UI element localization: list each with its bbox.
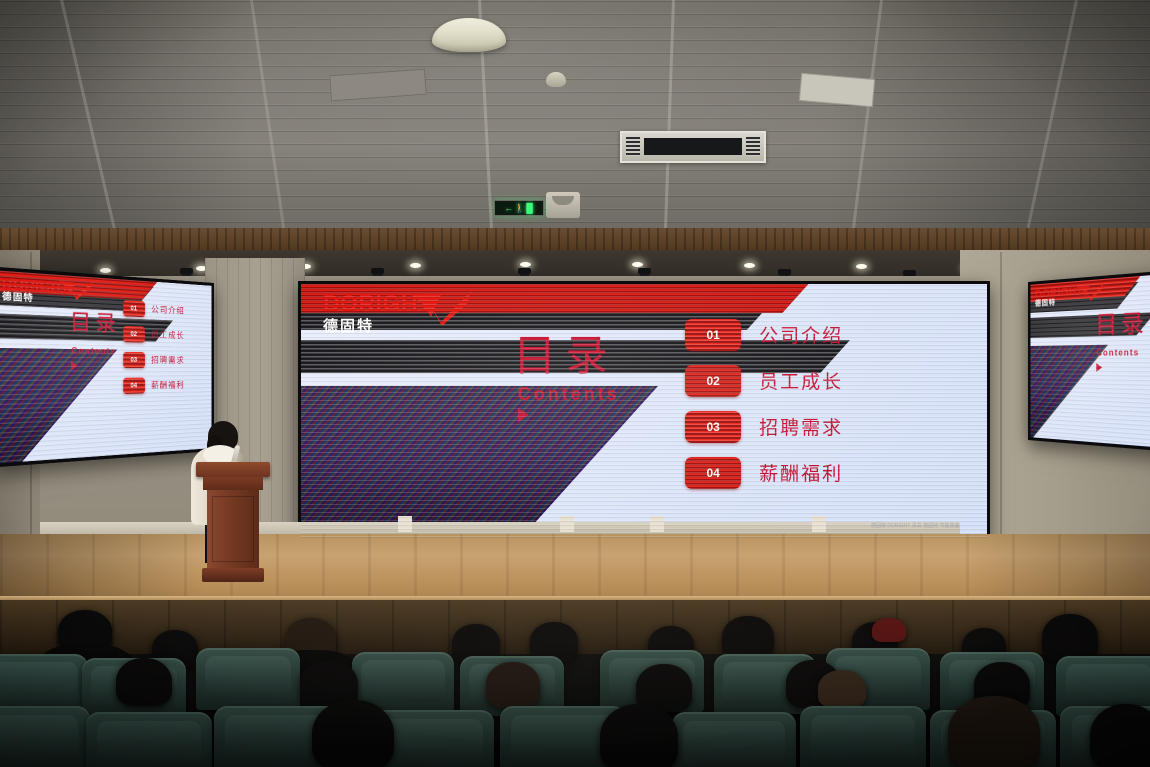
slide-content-right: DORIGHT 德固特 目录 Contents	[1031, 272, 1150, 450]
slide-heading-cn: 目录	[70, 310, 120, 334]
audience-head	[872, 618, 906, 642]
downlight	[744, 263, 755, 268]
agenda-number-badge: 01	[123, 300, 145, 317]
brand-check-icon	[407, 290, 473, 326]
audience-head	[116, 658, 172, 706]
audience-head	[948, 696, 1040, 767]
slide-heading-en: Contents	[518, 384, 620, 405]
stage-base-block	[560, 516, 574, 532]
agenda-number-badge: 04	[685, 457, 741, 489]
audience-head	[486, 662, 540, 708]
podium	[196, 462, 270, 584]
triangle-bullet-icon	[518, 408, 529, 422]
downlight	[100, 268, 111, 273]
podium-neck	[203, 477, 263, 490]
decor-photo-wedge	[1031, 345, 1109, 444]
agenda-item[interactable]: 02 员工成长	[685, 365, 973, 397]
podium-top	[196, 462, 270, 477]
brand-check-icon	[57, 277, 94, 302]
slide-content-left: DORIGHT 德固特 目录 Contents 01 公司介绍 02 员工成长	[0, 270, 211, 464]
left-monitor[interactable]: DORIGHT 德固特 目录 Contents 01 公司介绍 02 员工成长	[0, 266, 214, 467]
decor-photo-wedge	[0, 347, 116, 463]
vent-louver-left	[626, 137, 640, 156]
brand-check-icon	[1075, 281, 1105, 302]
slide-content-main: DORIGHT 德固特 目录 Contents 01 公司介绍 02 员工成长	[301, 284, 987, 540]
agenda-item-label: 招聘需求	[151, 355, 184, 367]
audience-seat	[672, 712, 796, 767]
agenda-list: 01 公司介绍 02 员工成长 03 招聘需求 04 薪酬福利	[685, 319, 973, 503]
main-led-wall[interactable]: DORIGHT 德固特 目录 Contents 01 公司介绍 02 员工成长	[298, 281, 990, 543]
agenda-item[interactable]: 03 招聘需求	[123, 352, 206, 368]
agenda-list: 01 公司介绍 02 员工成长 03 招聘需求 04 薪酬福利	[123, 300, 206, 404]
agenda-number-badge: 03	[123, 352, 145, 368]
audience-head	[818, 670, 866, 708]
slide-heading-en: Contents	[71, 345, 116, 356]
agenda-number-badge: 01	[685, 319, 741, 351]
downlight	[632, 262, 643, 267]
smoke-detector-icon	[546, 72, 566, 87]
agenda-item-label: 薪酬福利	[759, 459, 843, 486]
agenda-item-label: 员工成长	[151, 329, 184, 341]
agenda-item-label: 公司介绍	[759, 321, 843, 348]
exit-sign: ←🚶█	[494, 200, 544, 216]
stage-base-block	[398, 516, 412, 532]
audience-seat	[196, 648, 300, 710]
agenda-number-badge: 02	[123, 326, 145, 343]
agenda-number-badge: 03	[685, 411, 741, 443]
downlight	[856, 264, 867, 269]
stage-base-block	[812, 516, 826, 532]
audience-seat	[0, 706, 90, 767]
agenda-item[interactable]: 03 招聘需求	[685, 411, 973, 443]
podium-base	[202, 568, 264, 582]
running-man-icon: ←🚶█	[504, 204, 534, 213]
agenda-number-badge: 04	[123, 378, 145, 394]
audience-head	[312, 700, 394, 767]
audience-head	[1042, 614, 1098, 662]
slide-heading-cn: 目录	[514, 335, 618, 377]
agenda-item[interactable]: 02 员工成长	[123, 326, 206, 344]
agenda-number-badge: 02	[685, 365, 741, 397]
downlight	[520, 262, 531, 267]
vent-slot	[644, 138, 742, 155]
triangle-bullet-icon	[71, 362, 77, 371]
agenda-item[interactable]: 01 公司介绍	[685, 319, 973, 351]
agenda-item-label: 公司介绍	[151, 304, 184, 317]
agenda-item[interactable]: 04 薪酬福利	[685, 457, 973, 489]
stage-base-block	[650, 516, 664, 532]
audience-area	[0, 600, 1150, 767]
ceiling-bracket	[546, 192, 580, 218]
right-monitor[interactable]: DORIGHT 德固特 目录 Contents	[1028, 268, 1150, 454]
slide-watermark: 德固特 DORIGHT 青岛 德固特 节能装备	[871, 523, 960, 530]
agenda-item-label: 员工成长	[759, 367, 843, 394]
agenda-item[interactable]: 04 薪酬福利	[123, 378, 206, 395]
downlight	[410, 263, 421, 268]
agenda-item-label: 招聘需求	[759, 413, 843, 440]
podium-body	[207, 490, 259, 570]
slide-heading-cn: 目录	[1095, 313, 1148, 339]
agenda-item-label: 薪酬福利	[151, 380, 184, 392]
audience-seat	[800, 706, 926, 767]
vent-louver-right	[746, 137, 760, 156]
audience-head	[600, 704, 678, 767]
agenda-item[interactable]: 01 公司介绍	[123, 300, 206, 320]
auditorium-presentation-scene: ←🚶█ DORIGHT 德固特	[0, 0, 1150, 767]
wall-seam	[1000, 252, 1002, 542]
audience-head	[1090, 704, 1150, 767]
ac-vent	[620, 131, 766, 163]
triangle-bullet-icon	[1096, 363, 1102, 372]
slide-heading-en: Contents	[1096, 347, 1139, 357]
decor-photo-wedge	[301, 386, 658, 540]
audience-seat	[86, 712, 212, 767]
wood-trim-band	[0, 228, 1150, 250]
